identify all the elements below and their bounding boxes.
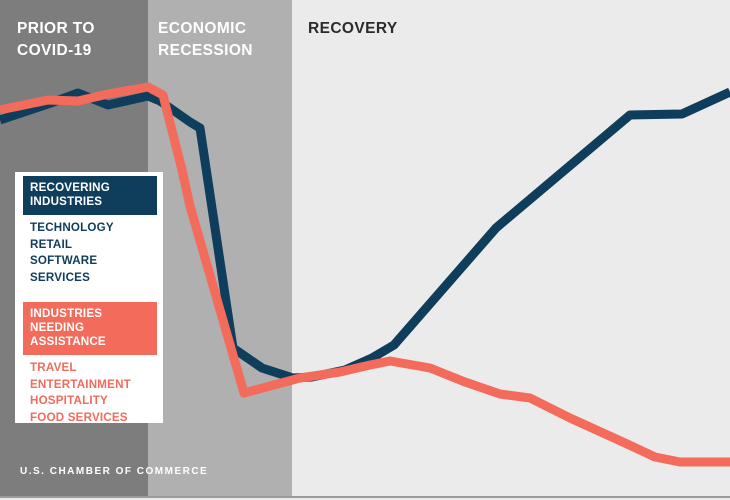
legend-items-recovering: TECHNOLOGY RETAIL SOFTWARE SERVICES [23,220,157,286]
footer-credit-us-chamber-of-commerce: U.S. CHAMBER OF COMMERCE [20,466,208,477]
baseline-rule [0,496,730,498]
legend-header-industries-needing-assistance: INDUSTRIES NEEDING ASSISTANCE [23,302,157,355]
infographic-root: PRIOR TO COVID-19 ECONOMIC RECESSION REC… [0,0,730,500]
legend-item-entertainment: ENTERTAINMENT [30,377,157,393]
legend-item-hospitality: HOSPITALITY [30,393,157,409]
phase-band-recovery [292,0,730,497]
legend-group-industries-needing-assistance: INDUSTRIES NEEDING ASSISTANCE TRAVEL ENT… [23,302,157,426]
legend-item-retail: RETAIL [30,237,157,253]
legend-item-software-services: SOFTWARE SERVICES [30,253,157,286]
legend-item-travel: TRAVEL [30,360,157,376]
legend-header-recovering-industries: RECOVERING INDUSTRIES [23,176,157,215]
legend-item-food-services: FOOD SERVICES [30,410,157,426]
chart-legend: RECOVERING INDUSTRIES TECHNOLOGY RETAIL … [15,172,163,423]
legend-item-technology: TECHNOLOGY [30,220,157,236]
legend-items-assistance: TRAVEL ENTERTAINMENT HOSPITALITY FOOD SE… [23,360,157,426]
legend-group-recovering-industries: RECOVERING INDUSTRIES TECHNOLOGY RETAIL … [23,176,157,286]
